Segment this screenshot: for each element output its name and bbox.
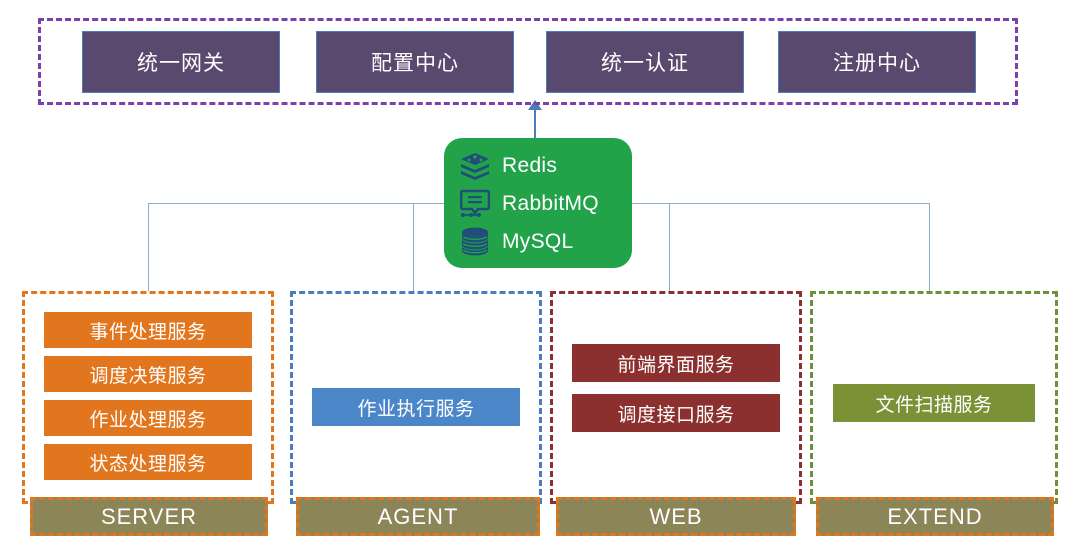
service-group-body: 事件处理服务调度决策服务作业处理服务状态处理服务 [25,312,271,480]
service-box-label: 调度接口服务 [617,400,734,427]
service-group-web: 前端界面服务调度接口服务 [550,291,802,504]
group-footer-extend: EXTEND [816,497,1054,536]
service-box-label: 文件扫描服务 [875,390,992,417]
gateway-box-label: 配置中心 [371,47,459,77]
service-group-extend: 文件扫描服务 [810,291,1058,504]
rabbitmq-message-icon [458,188,492,220]
service-group-body: 文件扫描服务 [813,384,1055,422]
group-footer-web: WEB [556,497,796,536]
service-box[interactable]: 文件扫描服务 [833,384,1035,422]
architecture-diagram: 统一网关配置中心统一认证注册中心 Redis [0,0,1080,545]
connector-stem-3 [929,203,930,291]
middleware-item-label: RabbitMQ [502,192,599,216]
service-group-body: 前端界面服务调度接口服务 [553,344,799,432]
service-box-label: 作业处理服务 [89,405,206,432]
gateway-box-0[interactable]: 统一网关 [82,31,280,93]
service-group-server: 事件处理服务调度决策服务作业处理服务状态处理服务 [22,291,274,504]
group-footer-agent: AGENT [296,497,540,536]
service-box[interactable]: 作业执行服务 [312,388,520,426]
gateway-box-1[interactable]: 配置中心 [316,31,514,93]
service-box-label: 状态处理服务 [89,449,206,476]
middleware-item: MySQL [458,224,632,260]
middleware-item-label: Redis [502,154,557,178]
group-footer-label: EXTEND [887,504,982,530]
middleware-item: RabbitMQ [458,186,632,222]
service-box[interactable]: 作业处理服务 [44,400,252,436]
service-group-agent: 作业执行服务 [290,291,542,504]
service-box[interactable]: 状态处理服务 [44,444,252,480]
gateway-box-label: 统一网关 [137,47,225,77]
middleware-item: Redis [458,148,632,184]
service-box-label: 作业执行服务 [357,394,474,421]
connector-middleware-left [413,203,444,204]
connector-middleware-right [632,203,669,204]
group-footer-label: AGENT [378,504,459,530]
redis-layers-icon [458,150,492,182]
gateway-box-2[interactable]: 统一认证 [546,31,744,93]
service-box[interactable]: 调度决策服务 [44,356,252,392]
service-group-body: 作业执行服务 [293,388,539,426]
service-box-label: 调度决策服务 [89,361,206,388]
middleware-box: Redis RabbitMQ [444,138,632,268]
group-footer-server: SERVER [30,497,268,536]
gateway-box-label: 注册中心 [833,47,921,77]
service-box[interactable]: 事件处理服务 [44,312,252,348]
service-box[interactable]: 前端界面服务 [572,344,780,382]
connector-stem-2 [669,203,670,291]
group-footer-label: WEB [649,504,702,530]
service-box-label: 事件处理服务 [89,317,206,344]
group-footer-label: SERVER [101,504,197,530]
middleware-item-label: MySQL [502,230,574,254]
connector-stem-1 [413,203,414,291]
mysql-database-icon [458,226,492,258]
connector-stem-0 [148,203,149,291]
service-box-label: 前端界面服务 [617,350,734,377]
gateway-box-3[interactable]: 注册中心 [778,31,976,93]
gateway-box-label: 统一认证 [601,47,689,77]
service-box[interactable]: 调度接口服务 [572,394,780,432]
